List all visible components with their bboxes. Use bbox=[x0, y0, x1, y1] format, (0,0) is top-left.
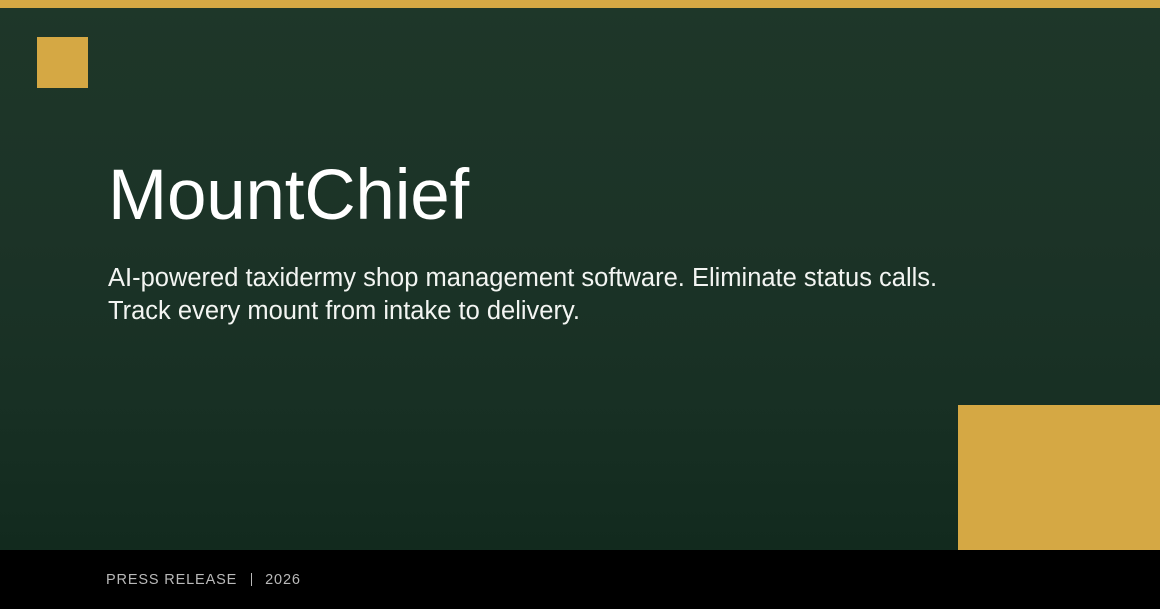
slide-content: MountChief AI-powered taxidermy shop man… bbox=[108, 160, 968, 328]
footer-divider bbox=[251, 573, 252, 586]
footer-content: PRESS RELEASE 2026 bbox=[106, 550, 301, 609]
top-accent-bar bbox=[0, 0, 1160, 8]
gold-accent-block bbox=[958, 405, 1160, 550]
footer-year: 2026 bbox=[265, 572, 301, 588]
logo-square-mark bbox=[37, 37, 88, 88]
slide-footer: PRESS RELEASE 2026 bbox=[0, 550, 1160, 609]
footer-label: PRESS RELEASE bbox=[106, 572, 237, 588]
page-title: MountChief bbox=[108, 160, 968, 232]
slide-subtitle: AI-powered taxidermy shop management sof… bbox=[108, 232, 943, 328]
presentation-slide: MountChief AI-powered taxidermy shop man… bbox=[0, 0, 1160, 609]
